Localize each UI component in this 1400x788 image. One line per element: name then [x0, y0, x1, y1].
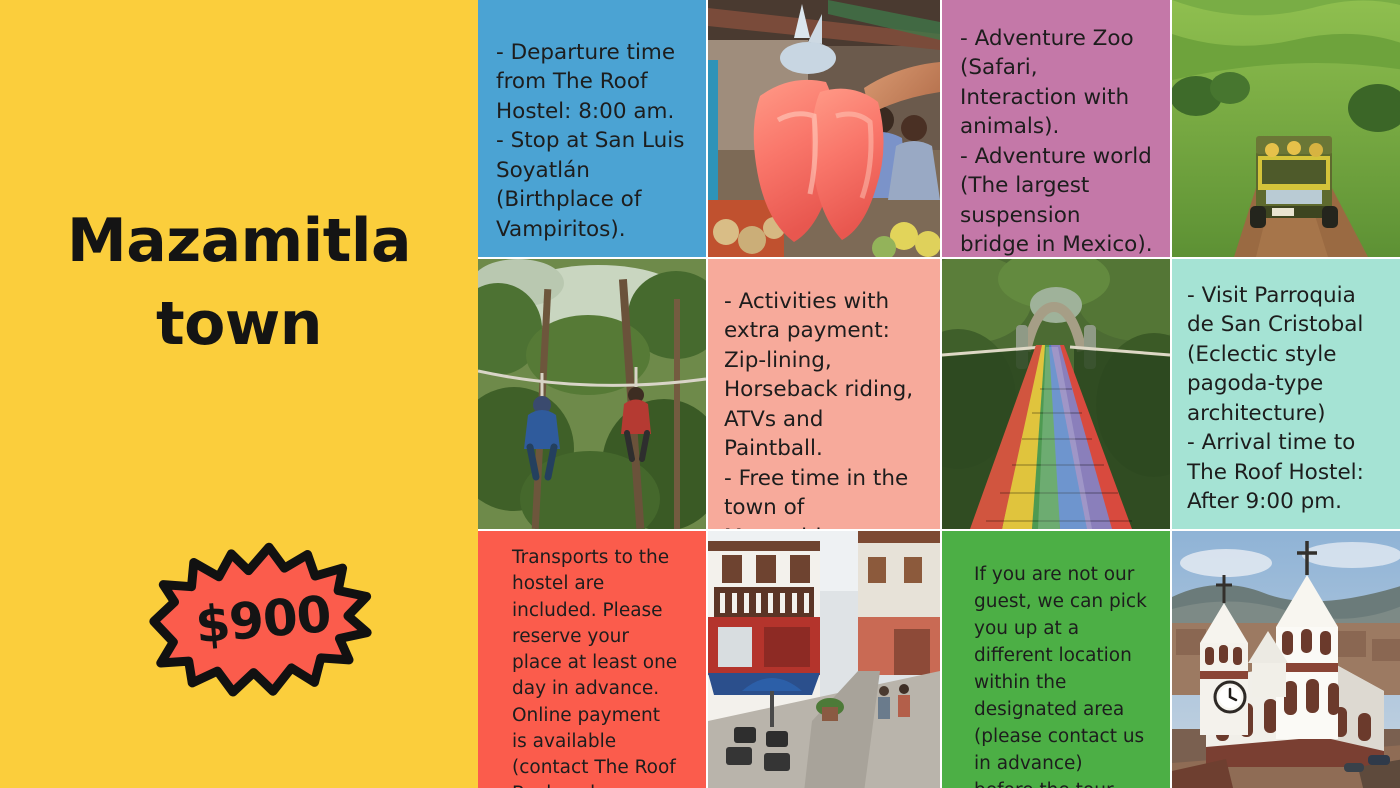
zipline-riders-over-forest-photo — [478, 259, 706, 529]
price-value: $900 — [133, 530, 386, 710]
cell-booking-terms: Transports to the hostel are included. P… — [478, 531, 706, 788]
page-title: Mazamitla town — [0, 200, 478, 366]
price-badge: $900 — [140, 540, 380, 700]
cell-safari-truck-photo — [1172, 0, 1400, 257]
cell-parroquia-photo — [1172, 531, 1400, 788]
cell-optional-activities: - Activities with extra payment: Zip-lin… — [708, 259, 940, 529]
cell-market-bag-photo — [708, 0, 940, 257]
mazamitla-town-street-photo — [708, 531, 940, 788]
cell-town-street-photo — [708, 531, 940, 788]
left-yellow-panel: Mazamitla town $900 — [0, 0, 478, 788]
cell-church-and-arrival: - Visit Parroquia de San Cristobal (Ecle… — [1172, 259, 1400, 529]
parroquia-san-cristobal-church-photo — [1172, 531, 1400, 788]
poster-canvas: Mazamitla town $900 - Departure time fro… — [0, 0, 1400, 788]
safari-truck-on-green-hill-photo — [1172, 0, 1400, 257]
rainbow-suspension-bridge-photo — [942, 259, 1170, 529]
cell-rainbow-bridge-photo — [942, 259, 1170, 529]
content-grid: - Departure time from The Roof Hostel: 8… — [478, 0, 1400, 788]
cell-attractions-adventure: - Adventure Zoo (Safari, Interaction wit… — [942, 0, 1170, 257]
cell-zipline-photo — [478, 259, 706, 529]
market-vendor-holding-pink-bag-photo — [708, 0, 940, 257]
cell-pickup-terms: If you are not our guest, we can pick yo… — [942, 531, 1170, 788]
cell-itinerary-morning: - Departure time from The Roof Hostel: 8… — [478, 0, 706, 257]
